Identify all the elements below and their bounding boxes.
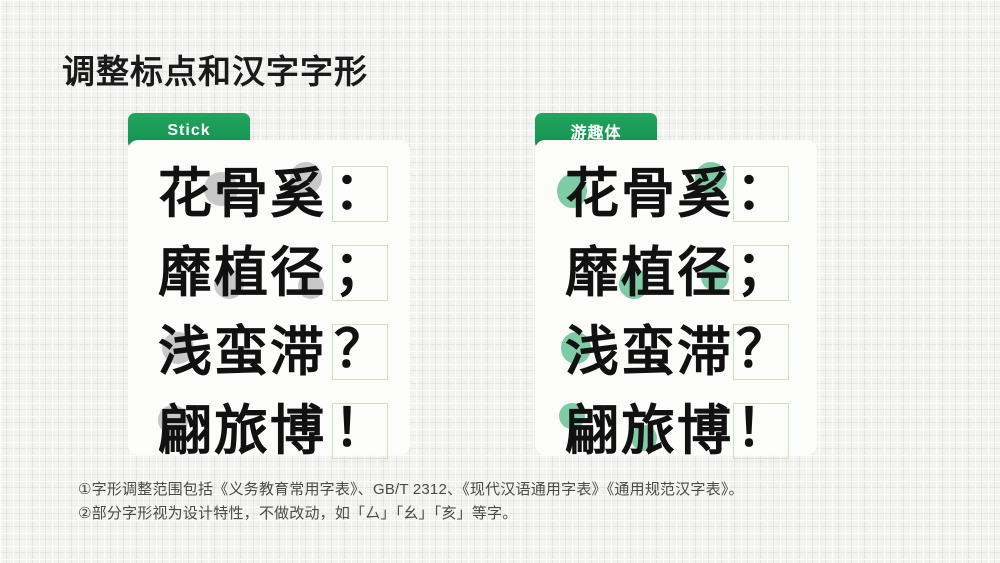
glyph-row-list-right: 花骨奚 ： 靡植径 ； 浅蛮滞 ？ <box>535 154 817 470</box>
page-title: 调整标点和汉字字形 <box>62 52 368 92</box>
punctuation-glyph: ； <box>334 245 386 297</box>
punctuation-glyph: ！ <box>334 403 386 455</box>
hanzi-text: 靡植径 <box>565 242 733 304</box>
punctuation-glyph: ？ <box>736 324 788 376</box>
glyph-row: 靡植径 ； <box>128 233 410 312</box>
punctuation-box: ！ <box>733 403 789 459</box>
punctuation-glyph: ： <box>334 166 386 218</box>
badge-stick-label: Stick <box>167 122 210 140</box>
page-background: 调整标点和汉字字形 Stick 游趣体 花骨奚 ： 靡植径 ； <box>0 0 1000 563</box>
hanzi-text: 翩旅博 <box>565 400 733 462</box>
punctuation-box: ！ <box>332 403 388 459</box>
glyph-row: 翩旅博 ！ <box>535 391 817 470</box>
punctuation-box: ； <box>733 245 789 301</box>
footnote-line-1: ①字形调整范围包括《义务教育常用字表》、GB/T 2312、《现代汉语通用字表》… <box>78 478 744 502</box>
punctuation-glyph: ； <box>736 245 788 297</box>
punctuation-box: ？ <box>733 324 789 380</box>
punctuation-box: ： <box>332 166 388 222</box>
glyph-row: 翩旅博 ！ <box>128 391 410 470</box>
glyph-row: 浅蛮滞 ？ <box>128 312 410 391</box>
glyph-row: 花骨奚 ： <box>535 154 817 233</box>
glyph-row-list-left: 花骨奚 ： 靡植径 ； 浅蛮滞 ？ <box>128 154 410 470</box>
glyph-row: 浅蛮滞 ？ <box>535 312 817 391</box>
punctuation-glyph: ？ <box>334 324 386 376</box>
sample-column-youquti: 花骨奚 ： 靡植径 ； 浅蛮滞 ？ <box>535 140 817 455</box>
hanzi-text: 花骨奚 <box>158 163 326 225</box>
glyph-row: 花骨奚 ： <box>128 154 410 233</box>
footnotes: ①字形调整范围包括《义务教育常用字表》、GB/T 2312、《现代汉语通用字表》… <box>78 478 744 526</box>
punctuation-glyph: ： <box>736 166 788 218</box>
punctuation-glyph: ！ <box>736 403 788 455</box>
hanzi-text: 花骨奚 <box>565 163 733 225</box>
punctuation-box: ： <box>733 166 789 222</box>
hanzi-text: 靡植径 <box>158 242 326 304</box>
hanzi-text: 浅蛮滞 <box>565 321 733 383</box>
sample-column-stick: 花骨奚 ： 靡植径 ； 浅蛮滞 ？ <box>128 140 410 455</box>
punctuation-box: ； <box>332 245 388 301</box>
punctuation-box: ？ <box>332 324 388 380</box>
glyph-row: 靡植径 ； <box>535 233 817 312</box>
hanzi-text: 翩旅博 <box>158 400 326 462</box>
hanzi-text: 浅蛮滞 <box>158 321 326 383</box>
footnote-line-2: ②部分字形视为设计特性，不做改动，如「厶」「幺」「亥」等字。 <box>78 502 744 526</box>
